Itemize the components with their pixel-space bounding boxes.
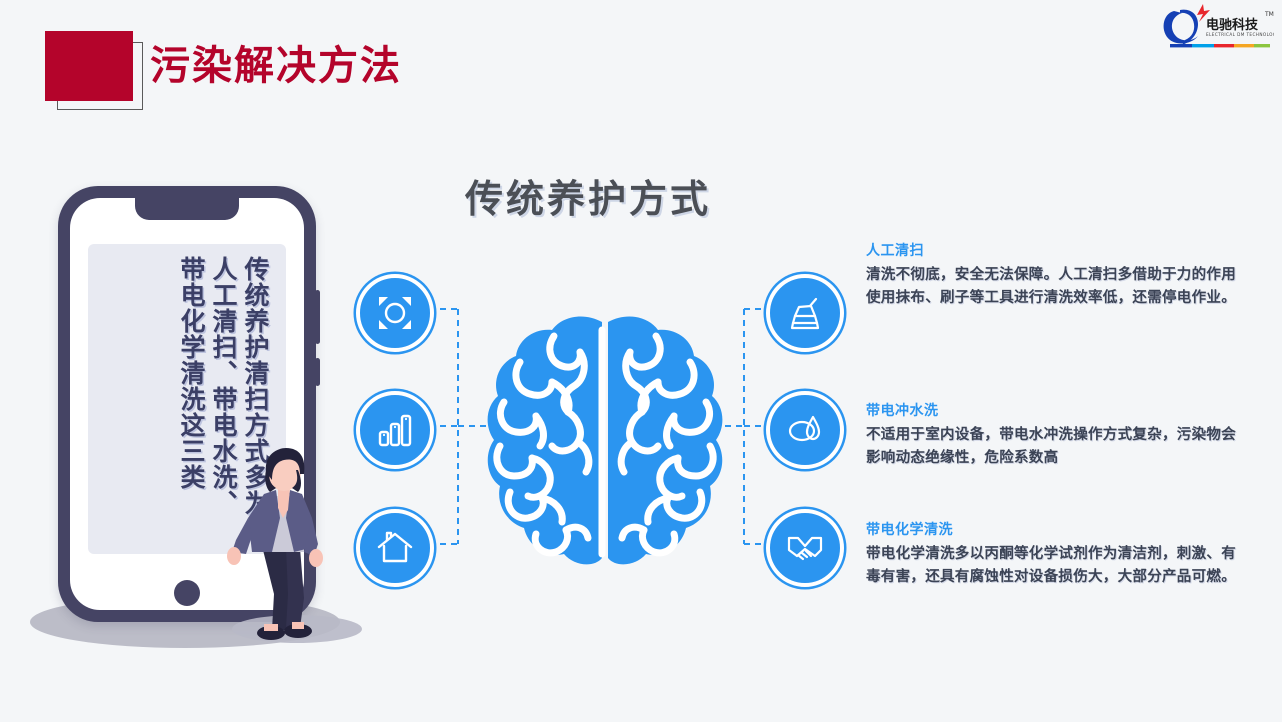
info-block-live-chemical-wash: 带电化学清洗 带电化学清洗多以丙酮等化学试剂作为清洁剂，刺激、有毒有害，还具有腐… (866, 519, 1236, 589)
svg-text:电驰科技: 电驰科技 (1206, 17, 1259, 33)
info-block-body: 带电化学清洗多以丙酮等化学试剂作为清洁剂，刺激、有毒有害，还具有腐蚀性对设备损伤… (866, 543, 1236, 589)
info-block-title: 带电冲水洗 (866, 400, 1236, 420)
broom-icon[interactable] (766, 274, 844, 352)
slide-canvas: 污染解决方法 电驰科技 TM ELECTRICAL DM TECHNOLOGY … (0, 0, 1282, 722)
info-block-live-water-wash: 带电冲水洗 不适用于室内设备，带电水冲洗操作方式复杂，污染物会影响动态绝缘性，危… (866, 400, 1236, 470)
info-block-title: 带电化学清洗 (866, 519, 1236, 539)
handshake-icon[interactable] (766, 509, 844, 587)
vertical-text-line-3: 带电化学清洗这三类 (176, 256, 206, 544)
info-block-body: 不适用于室内设备，带电水冲洗操作方式复杂，污染物会影响动态绝缘性，危险系数高 (866, 424, 1236, 470)
phone-side-button-small (315, 358, 320, 386)
company-logo: 电驰科技 TM ELECTRICAL DM TECHNOLOGY (1158, 2, 1274, 54)
svg-text:TM: TM (1264, 11, 1274, 18)
info-block-title: 人工清扫 (866, 240, 1236, 260)
bar-chart-icon[interactable] (356, 391, 434, 469)
red-square-accent (45, 31, 133, 101)
svg-text:ELECTRICAL DM TECHNOLOGY: ELECTRICAL DM TECHNOLOGY (1206, 32, 1274, 37)
water-drop-icon[interactable] (766, 391, 844, 469)
info-block-body: 清洗不彻底，安全无法保障。人工清扫多借助于力的作用使用抹布、刷子等工具进行清洗效… (866, 264, 1236, 310)
section-heading: 传统养护方式 (465, 168, 711, 223)
phone-side-button (315, 290, 320, 344)
info-block-manual-sweeping: 人工清扫 清洗不彻底，安全无法保障。人工清扫多借助于力的作用使用抹布、刷子等工具… (866, 240, 1236, 310)
focus-frame-icon[interactable] (356, 274, 434, 352)
person-illustration (226, 448, 346, 648)
phone-notch (135, 198, 239, 220)
brain-icon (480, 308, 730, 576)
phone-home-button (174, 580, 200, 606)
house-icon[interactable] (356, 509, 434, 587)
page-title: 污染解决方法 (150, 40, 402, 92)
